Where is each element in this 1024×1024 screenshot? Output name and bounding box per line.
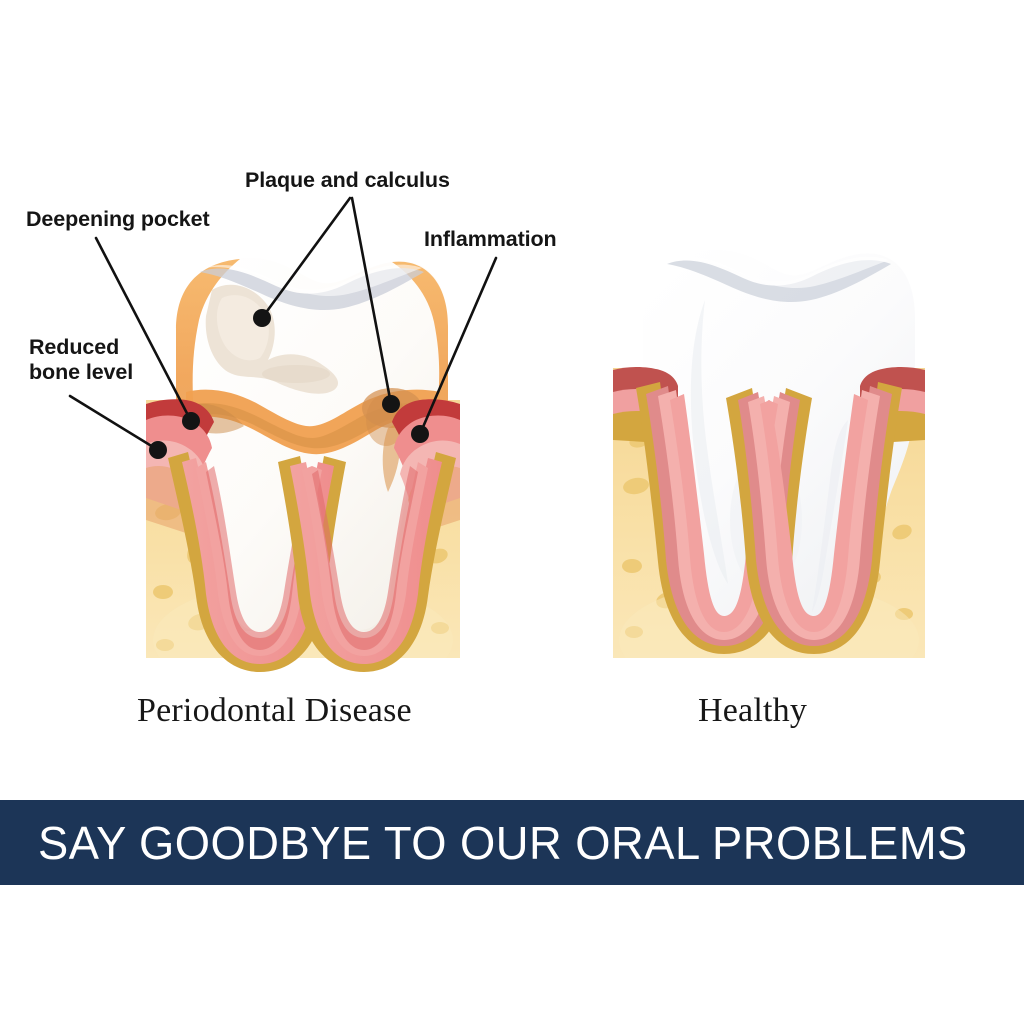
dot-inflammation xyxy=(411,425,429,443)
panel-healthy xyxy=(613,250,925,700)
callout-label-plaque-and-calculus: Plaque and calculus xyxy=(245,168,450,193)
banner-headline: SAY GOODBYE TO OUR ORAL PROBLEMS xyxy=(38,816,968,870)
dot-plaque-1 xyxy=(253,309,271,327)
dot-deepening-pocket xyxy=(182,412,200,430)
bottom-banner: SAY GOODBYE TO OUR ORAL PROBLEMS xyxy=(0,800,1024,885)
callout-label-deepening-pocket: Deepening pocket xyxy=(26,207,210,232)
callout-label-inflammation: Inflammation xyxy=(424,227,557,252)
callout-label-reduced-bone-level: Reduced bone level xyxy=(29,335,133,385)
caption-periodontal-disease: Periodontal Disease xyxy=(137,692,412,730)
root-sockets-diseased xyxy=(168,452,456,672)
panel-periodontal-disease xyxy=(146,258,460,700)
caption-healthy: Healthy xyxy=(698,692,807,730)
dot-plaque-2 xyxy=(382,395,400,413)
infographic-canvas: Deepening pocket Plaque and calculus Inf… xyxy=(0,0,1024,1024)
dot-reduced-bone xyxy=(149,441,167,459)
leader-reduced-bone xyxy=(70,396,158,450)
